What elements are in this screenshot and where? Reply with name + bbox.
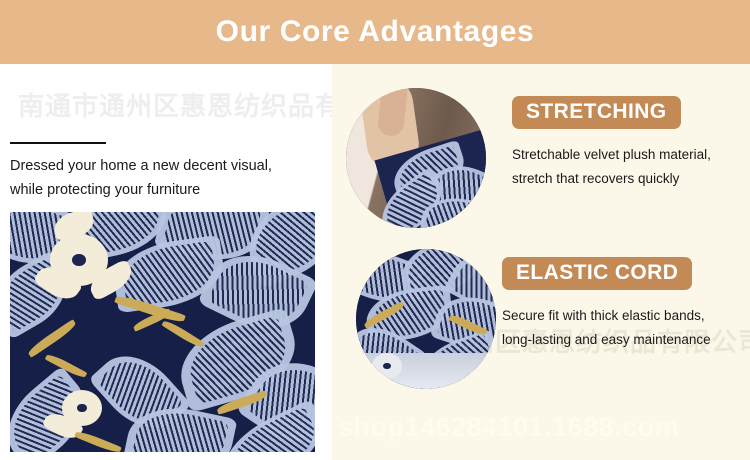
fabric-pattern bbox=[346, 88, 486, 228]
feature-desc-elastic-cord: Secure fit with thick elastic bands, lon… bbox=[502, 304, 738, 352]
feature-text-stretching: STRETCHING Stretchable velvet plush mate… bbox=[512, 96, 748, 191]
feature-photo-elastic-cord bbox=[356, 249, 496, 389]
left-description-line-2: while protecting your furniture bbox=[10, 178, 322, 202]
feature-desc-stretching: Stretchable velvet plush material, stret… bbox=[512, 143, 748, 191]
product-photo-main bbox=[10, 212, 315, 452]
fabric-pattern bbox=[10, 212, 315, 452]
advantages-banner: Our Core Advantages 南通市通州区惠恩纺织品有限公司 Dres… bbox=[0, 0, 750, 460]
left-description-line-1: Dressed your home a new decent visual, bbox=[10, 154, 322, 178]
fabric-pattern bbox=[356, 249, 496, 389]
left-panel: 南通市通州区惠恩纺织品有限公司 Dressed your home a new … bbox=[0, 64, 332, 460]
title-divider-rule bbox=[10, 142, 106, 144]
shop-url-watermark: shop146284101.1688.com bbox=[338, 412, 679, 443]
feature-text-elastic-cord: ELASTIC CORD Secure fit with thick elast… bbox=[502, 257, 738, 352]
feature-desc-line-1: Stretchable velvet plush material, bbox=[512, 143, 748, 167]
page-title: Our Core Advantages bbox=[216, 17, 535, 47]
left-description: Dressed your home a new decent visual, w… bbox=[10, 154, 322, 202]
feature-desc-line-1: Secure fit with thick elastic bands, bbox=[502, 304, 738, 328]
body-area: 南通市通州区惠恩纺织品有限公司 Dressed your home a new … bbox=[0, 64, 750, 460]
badge-elastic-cord: ELASTIC CORD bbox=[502, 257, 692, 290]
feature-stretching: STRETCHING Stretchable velvet plush mate… bbox=[332, 88, 750, 248]
right-panel: 南通市通州区惠恩纺织品有限公司 shop146284101.1688.com bbox=[332, 64, 750, 460]
feature-desc-line-2: long-lasting and easy maintenance bbox=[502, 328, 738, 352]
badge-stretching: STRETCHING bbox=[512, 96, 681, 129]
feature-desc-line-2: stretch that recovers quickly bbox=[512, 167, 748, 191]
feature-elastic-cord: ELASTIC CORD Secure fit with thick elast… bbox=[332, 249, 750, 409]
header-band: Our Core Advantages bbox=[0, 0, 750, 64]
feature-photo-stretching bbox=[346, 88, 486, 228]
